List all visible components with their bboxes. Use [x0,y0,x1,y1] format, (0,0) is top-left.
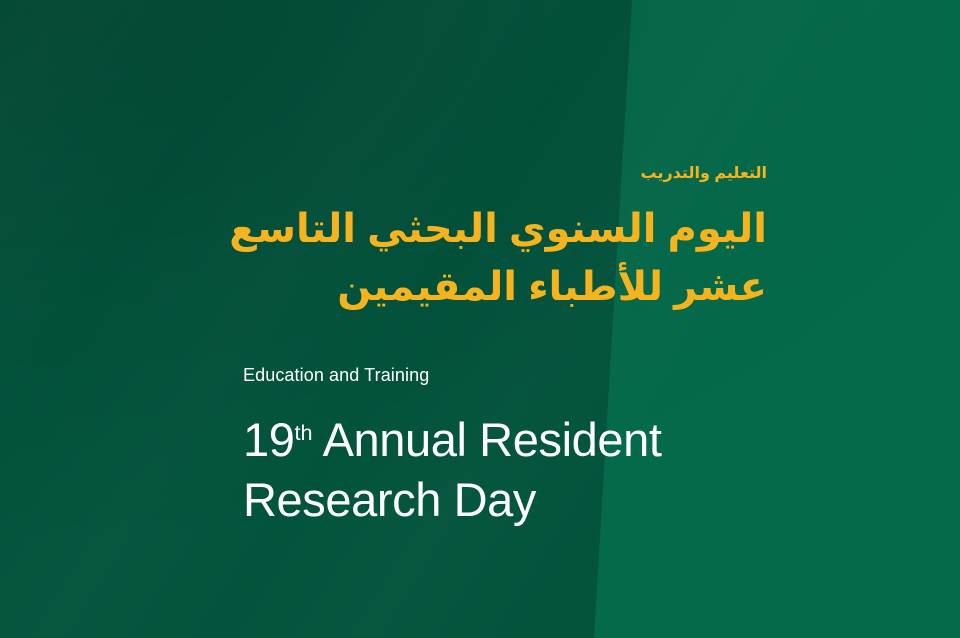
arabic-title-line-2: عشر للأطباء المقيمين [229,258,767,316]
english-eyebrow-label: Education and Training [243,366,661,384]
arabic-title-line-1: اليوم السنوي البحثي التاسع [229,200,767,258]
arabic-text-block: التعليم والتدريب اليوم السنوي البحثي الت… [229,166,767,316]
arabic-title: اليوم السنوي البحثي التاسع عشر للأطباء ا… [229,200,767,316]
ordinal-number: 19 [243,413,294,466]
arabic-eyebrow-label: التعليم والتدريب [229,166,767,182]
banner-content: التعليم والتدريب اليوم السنوي البحثي الت… [0,0,960,638]
ordinal-suffix: th [294,420,312,445]
english-title-line-1-rest: Annual Resident [313,413,662,466]
english-title: 19th Annual Resident Research Day [243,410,661,530]
english-text-block: Education and Training 19th Annual Resid… [243,366,661,530]
english-title-line-1: 19th Annual Resident [243,410,661,470]
english-title-line-2: Research Day [243,470,661,530]
event-banner: التعليم والتدريب اليوم السنوي البحثي الت… [0,0,960,638]
